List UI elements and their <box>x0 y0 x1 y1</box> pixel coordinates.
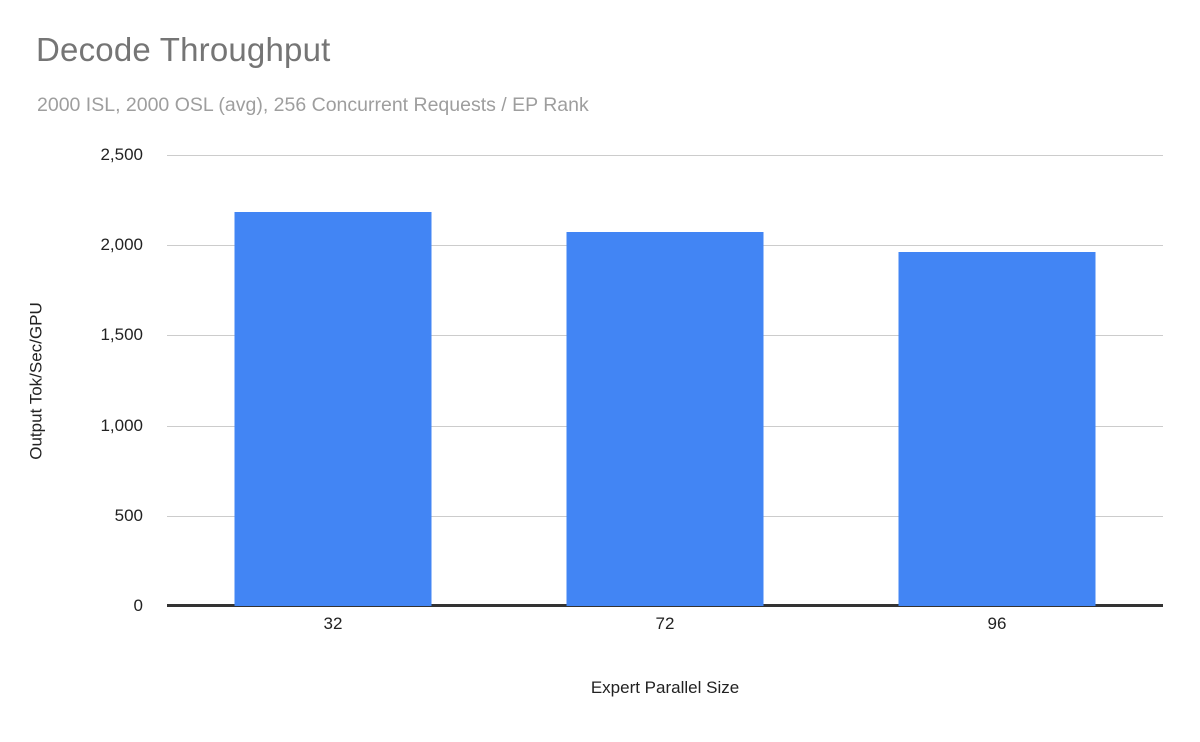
x-axis-tick-label: 96 <box>988 614 1007 634</box>
bar-band <box>831 155 1163 606</box>
y-axis-tick-label: 0 <box>134 596 143 616</box>
bar-series <box>167 155 1163 606</box>
bar[interactable] <box>567 232 764 606</box>
x-axis-tick-label: 72 <box>656 614 675 634</box>
bar-band <box>167 155 499 606</box>
bar-chart: Decode Throughput 2000 ISL, 2000 OSL (av… <box>0 0 1200 742</box>
bar-band <box>499 155 831 606</box>
x-axis-title: Expert Parallel Size <box>167 678 1163 698</box>
y-axis-tick-labels: 05001,0001,5002,0002,500 <box>0 155 155 606</box>
bar[interactable] <box>235 212 432 606</box>
y-axis-tick-label: 500 <box>115 506 143 526</box>
bar[interactable] <box>899 252 1096 606</box>
x-axis-tick-label: 32 <box>324 614 343 634</box>
chart-subtitle: 2000 ISL, 2000 OSL (avg), 256 Concurrent… <box>37 92 589 118</box>
y-axis-tick-label: 1,500 <box>100 325 143 345</box>
x-axis-tick-labels: 327296 <box>167 614 1163 640</box>
y-axis-tick-label: 2,500 <box>100 145 143 165</box>
y-axis-tick-label: 1,000 <box>100 416 143 436</box>
y-axis-tick-label: 2,000 <box>100 235 143 255</box>
chart-title: Decode Throughput <box>36 30 331 70</box>
